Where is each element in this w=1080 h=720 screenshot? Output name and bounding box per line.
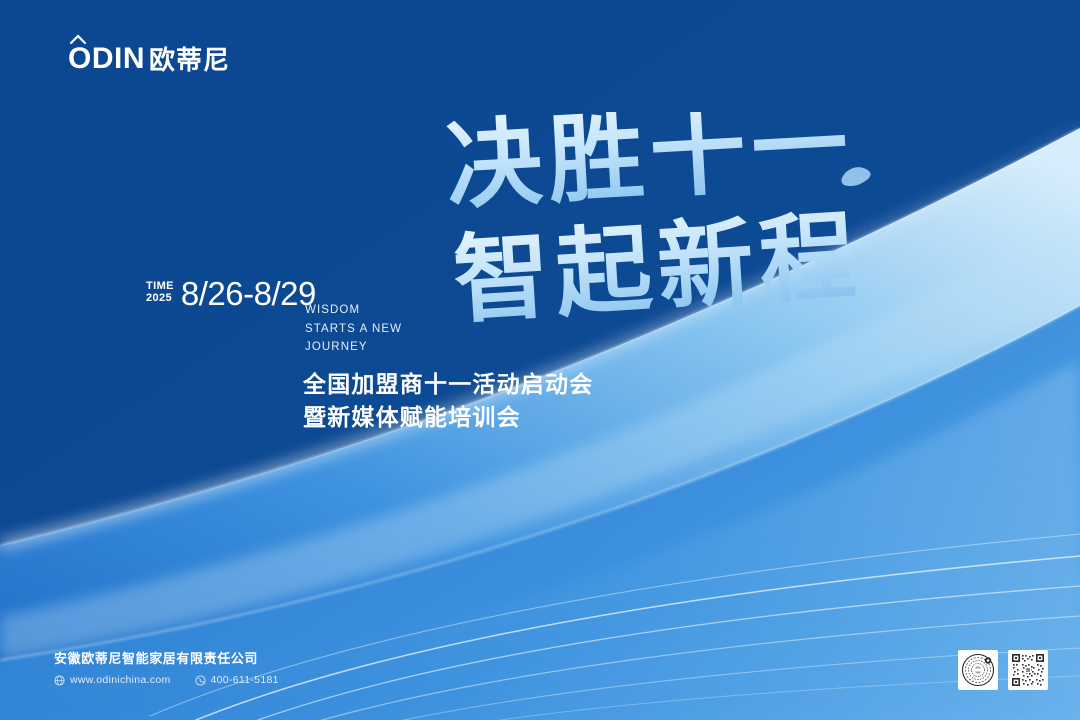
time-label: TIME [146,281,174,293]
english-tagline: WISDOM STARTS A NEW JOURNEY [305,301,402,357]
globe-icon [54,675,65,686]
tagline-line-1: WISDOM [305,301,402,320]
event-poster: ODIN 欧蒂尼 决胜十一 智起新程 TIME 2025 8/26-8/29 W… [0,0,1080,720]
subtitle-line-2: 暨新媒体赋能培训会 [303,401,593,434]
year-label: 2025 [146,293,174,305]
contact-row: www.odinichina.com 400-611-5181 [54,674,279,686]
brand-logo: ODIN 欧蒂尼 [68,44,230,74]
phone-icon [195,675,206,686]
event-date-block: TIME 2025 8/26-8/29 [146,277,316,310]
headline-calligraphy: 决胜十一 智起新程 [440,112,910,342]
circular-qr-code[interactable] [958,650,998,690]
tagline-line-2: STARTS A NEW [305,320,402,339]
logo-latin-text: ODIN [68,44,145,74]
logo-initial: O [68,42,92,75]
qr-code-group [958,650,1048,690]
website-contact[interactable]: www.odinichina.com [54,674,171,686]
company-name: 安徽欧蒂尼智能家居有限责任公司 [54,648,279,667]
square-qr-code[interactable] [1008,650,1048,690]
circumflex-accent-icon [70,35,86,44]
logo-latin-rest: DIN [92,42,145,75]
time-year-stack: TIME 2025 [146,281,174,307]
phone-text: 400-611-5181 [211,674,279,686]
headline-line-2: 智起新程 [450,199,864,337]
subtitle-line-1: 全国加盟商十一活动启动会 [303,368,593,401]
tagline-line-3: JOURNEY [305,338,402,357]
footer-info: 安徽欧蒂尼智能家居有限责任公司 www.odinichina.com 400-6… [54,648,279,686]
website-text: www.odinichina.com [70,674,171,686]
date-range: 8/26-8/29 [181,277,316,310]
event-subtitle: 全国加盟商十一活动启动会 暨新媒体赋能培训会 [303,368,593,433]
phone-contact[interactable]: 400-611-5181 [195,674,279,686]
logo-chinese-text: 欧蒂尼 [149,47,230,74]
background-waves [0,0,1080,720]
